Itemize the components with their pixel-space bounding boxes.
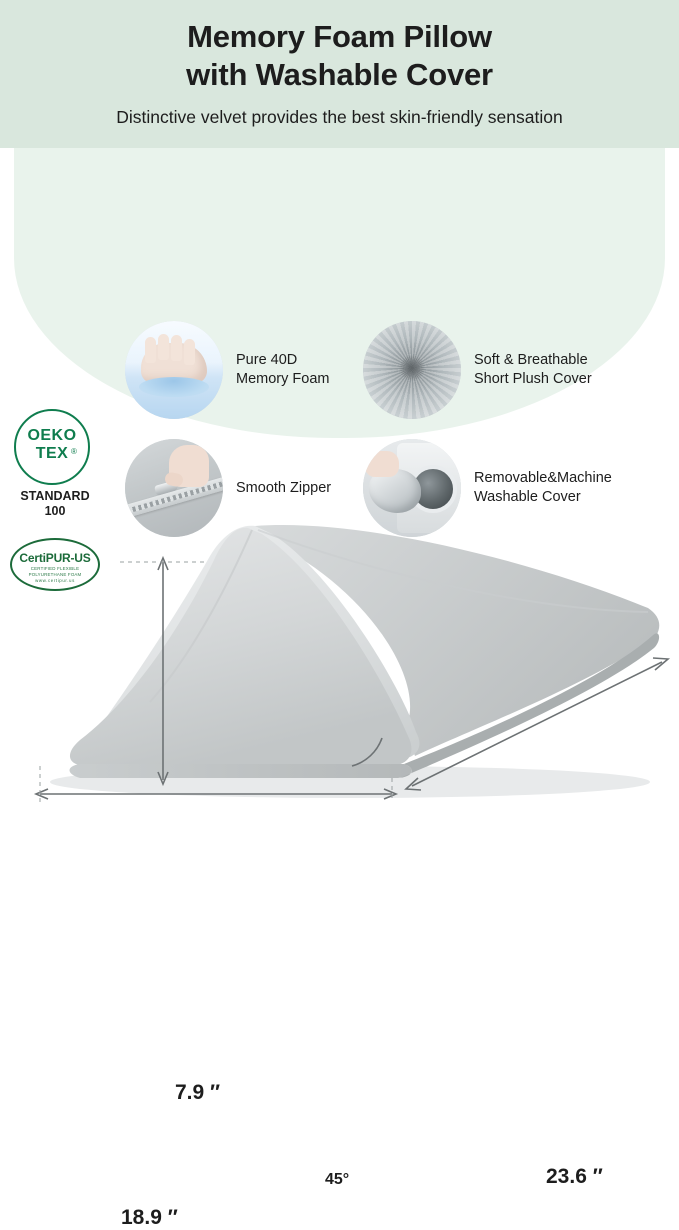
dimension-height-label: 7.9 ″ [175, 1081, 220, 1105]
dimension-depth-label: 23.6 ″ [546, 1165, 603, 1189]
dimension-width-label: 18.9 ″ [121, 1206, 178, 1230]
page-title: Memory Foam Pillow with Washable Cover [0, 18, 679, 94]
feature-label: Pure 40D Memory Foam [236, 351, 329, 389]
memory-foam-photo-icon [125, 321, 223, 419]
feature-item-memory-foam: Pure 40D Memory Foam [125, 321, 329, 419]
feature-panel: Pure 40D Memory Foam Soft & Breathable S… [14, 148, 665, 438]
feature-label: Soft & Breathable Short Plush Cover [474, 351, 592, 389]
product-illustration: 7.9 ″ 18.9 ″ 23.6 ″ 45° [0, 430, 679, 813]
dimension-angle-label: 45° [325, 1171, 349, 1189]
plush-fabric-photo-icon [363, 321, 461, 419]
header-banner: Memory Foam Pillow with Washable Cover D… [0, 0, 679, 148]
wedge-pillow-graphic [0, 430, 679, 813]
page-subtitle: Distinctive velvet provides the best ski… [0, 105, 679, 129]
feature-item-plush-cover: Soft & Breathable Short Plush Cover [363, 321, 592, 419]
